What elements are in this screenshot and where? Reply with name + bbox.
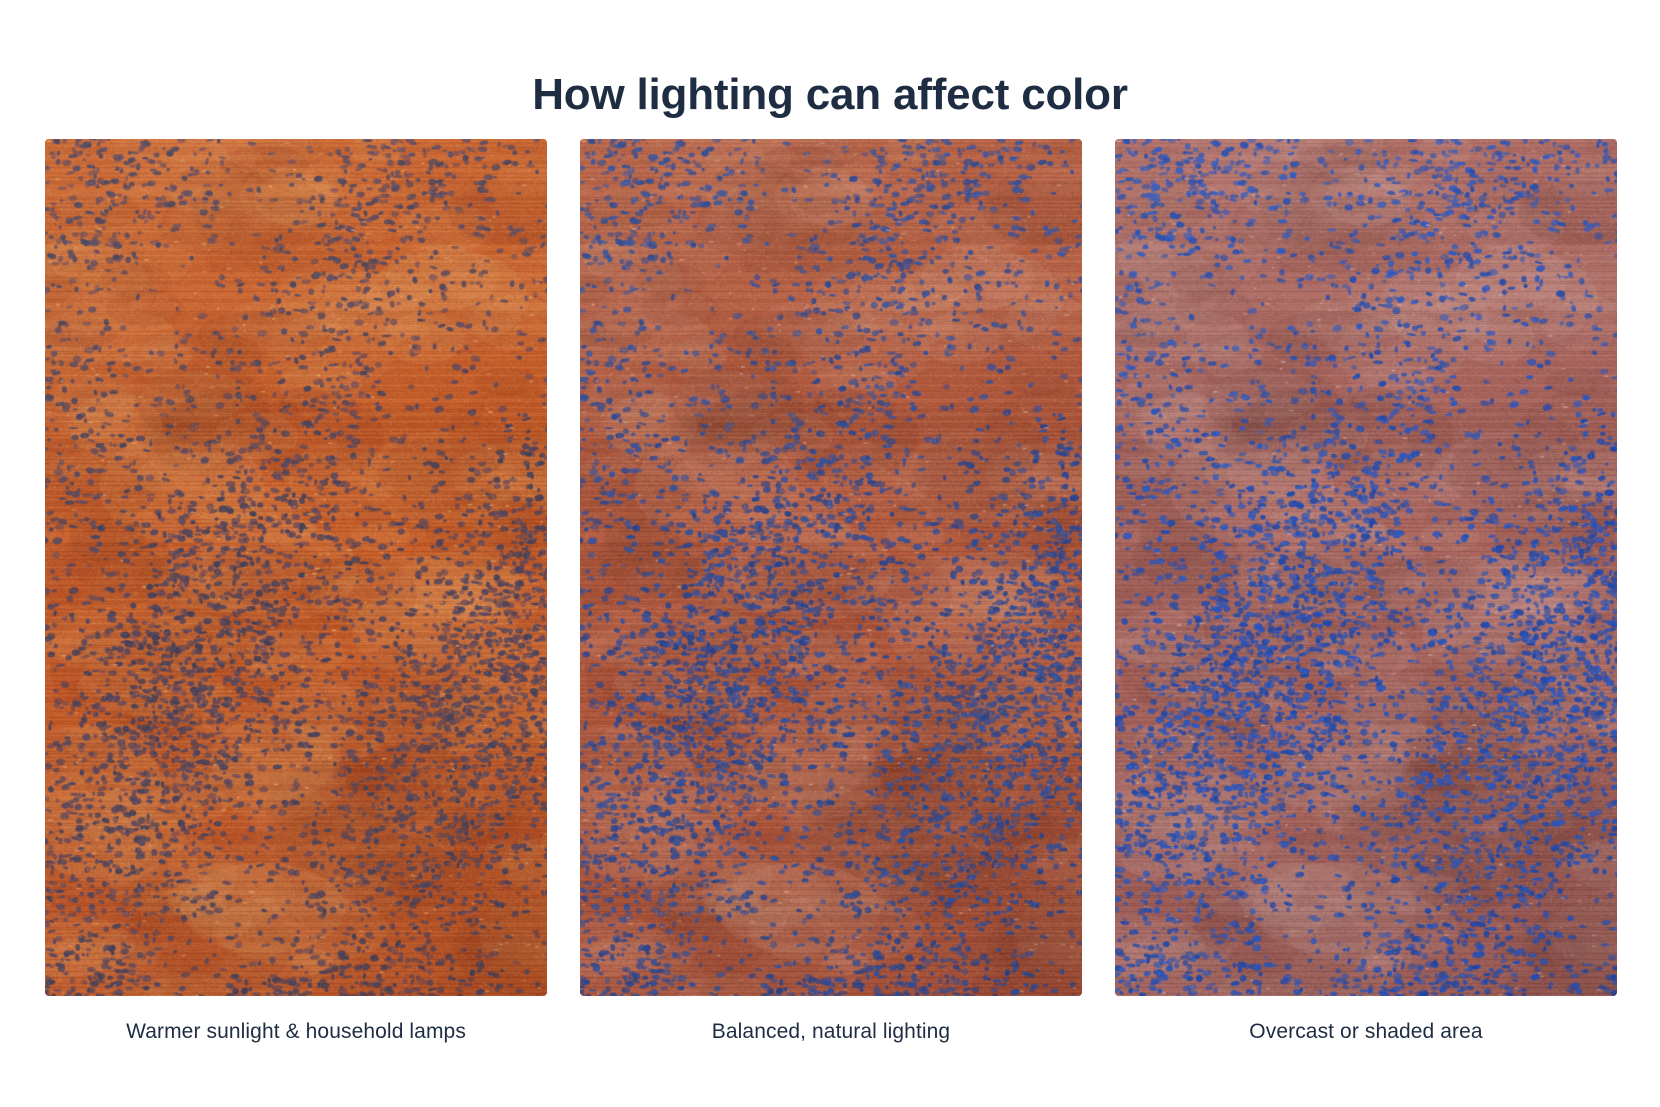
rug-swatch-image-warm (45, 139, 547, 996)
rug-panel-warm[interactable] (45, 139, 547, 996)
caption-warm: Warmer sunlight & household lamps (45, 1020, 547, 1044)
caption-row: Warmer sunlight & household lamps Balanc… (45, 1020, 1617, 1044)
caption-overcast: Overcast or shaded area (1115, 1020, 1617, 1044)
rug-panel-row (45, 139, 1617, 996)
rug-swatch-image-overcast (1115, 139, 1617, 996)
caption-balanced: Balanced, natural lighting (580, 1020, 1082, 1044)
page-title: How lighting can affect color (0, 71, 1660, 119)
rug-panel-balanced[interactable] (580, 139, 1082, 996)
rug-swatch-image-balanced (580, 139, 1082, 996)
rug-panel-overcast[interactable] (1115, 139, 1617, 996)
lighting-comparison-page: How lighting can affect color Warmer sun… (0, 0, 1660, 1107)
